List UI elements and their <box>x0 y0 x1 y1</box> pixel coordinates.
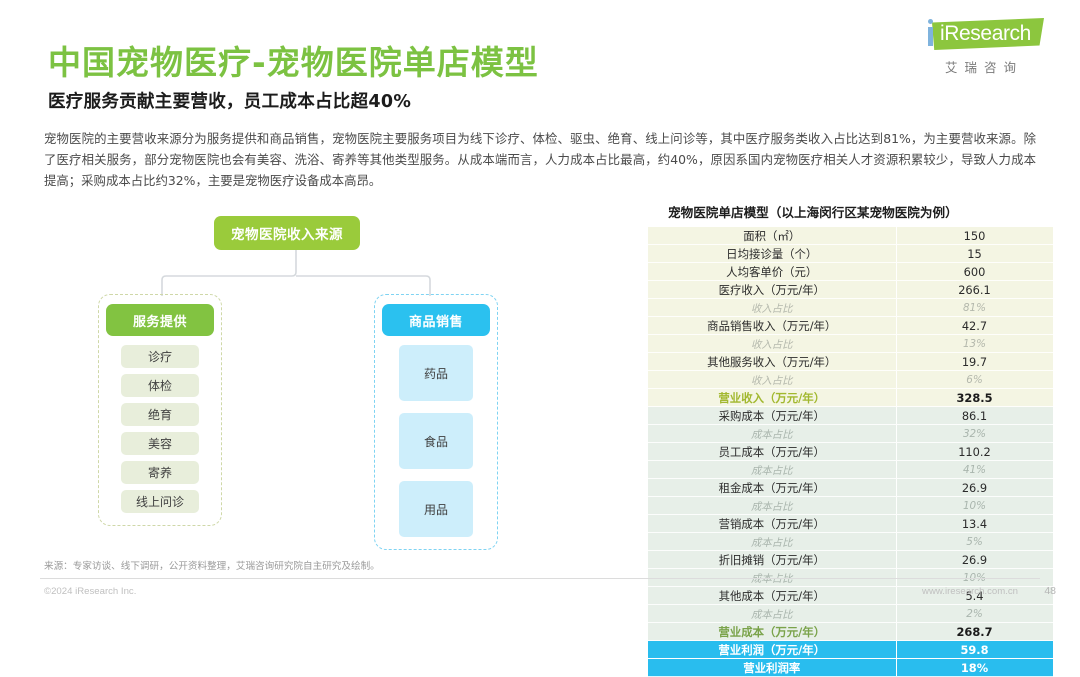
table-row: 商品销售收入（万元/年）42.7 <box>648 317 1053 335</box>
table-row: 收入占比13% <box>648 335 1053 353</box>
table-row: 营业成本（万元/年）268.7 <box>648 623 1053 641</box>
table-cell-label: 收入占比 <box>648 299 896 317</box>
table-cell-label: 医疗收入（万元/年） <box>648 281 896 299</box>
service-item-6: 线上问诊 <box>121 490 199 513</box>
diagram-root-node: 宠物医院收入来源 <box>214 216 360 250</box>
service-item-4: 美容 <box>121 432 199 455</box>
table-cell-label: 商品销售收入（万元/年） <box>648 317 896 335</box>
website-url: www.iresearch.com.cn <box>922 586 1018 597</box>
table-row: 采购成本（万元/年）86.1 <box>648 407 1053 425</box>
table-row: 日均接诊量（个）15 <box>648 245 1053 263</box>
table-cell-value: 86.1 <box>896 407 1053 425</box>
table-cell-label: 营销成本（万元/年） <box>648 515 896 533</box>
table-row: 成本占比32% <box>648 425 1053 443</box>
table-row: 收入占比81% <box>648 299 1053 317</box>
table-row: 医疗收入（万元/年）266.1 <box>648 281 1053 299</box>
table-row: 其他服务收入（万元/年）19.7 <box>648 353 1053 371</box>
table-cell-value: 59.8 <box>896 641 1053 659</box>
table-title: 宠物医院单店模型（以上海闵行区某宠物医院为例） <box>648 202 1052 221</box>
table-cell-value: 42.7 <box>896 317 1053 335</box>
logo-i-dot-icon <box>928 19 933 24</box>
table-cell-label: 成本占比 <box>648 425 896 443</box>
table-cell-value: 266.1 <box>896 281 1053 299</box>
table-row: 成本占比2% <box>648 605 1053 623</box>
branch-head-goods: 商品销售 <box>382 304 490 336</box>
iresearch-logo: iResearch 艾瑞咨询 <box>914 16 1046 76</box>
table-row: 租金成本（万元/年）26.9 <box>648 479 1053 497</box>
table-cell-value: 81% <box>896 299 1053 317</box>
slide-root: iResearch 艾瑞咨询 中国宠物医疗-宠物医院单店模型 医疗服务贡献主要营… <box>0 0 1080 607</box>
revenue-source-diagram: 宠物医院收入来源 服务提供 诊疗 体检 绝育 美容 寄养 线上问诊 商品销售 药… <box>36 202 616 552</box>
table-row: 人均客单价（元）600 <box>648 263 1053 281</box>
model-table: 面积（㎡）150日均接诊量（个）15人均客单价（元）600医疗收入（万元/年）2… <box>648 227 1053 677</box>
model-table-body: 面积（㎡）150日均接诊量（个）15人均客单价（元）600医疗收入（万元/年）2… <box>648 227 1053 677</box>
body-paragraph: 宠物医院的主要营收来源分为服务提供和商品销售，宠物医院主要服务项目为线下诊疗、体… <box>44 128 1036 191</box>
table-row: 成本占比41% <box>648 461 1053 479</box>
table-row: 收入占比6% <box>648 371 1053 389</box>
goods-item-2: 食品 <box>399 413 473 469</box>
table-cell-label: 员工成本（万元/年） <box>648 443 896 461</box>
table-cell-label: 成本占比 <box>648 533 896 551</box>
table-cell-label: 租金成本（万元/年） <box>648 479 896 497</box>
source-note: 来源：专家访谈、线下调研，公开资料整理，艾瑞咨询研究院自主研究及绘制。 <box>44 558 380 572</box>
footer-divider <box>40 578 1040 579</box>
table-cell-label: 采购成本（万元/年） <box>648 407 896 425</box>
table-cell-value: 268.7 <box>896 623 1053 641</box>
table-cell-label: 营业收入（万元/年） <box>648 389 896 407</box>
table-row: 营业利润（万元/年）59.8 <box>648 641 1053 659</box>
table-cell-value: 5% <box>896 533 1053 551</box>
table-cell-value: 26.9 <box>896 479 1053 497</box>
table-cell-value: 19.7 <box>896 353 1053 371</box>
table-row: 折旧摊销（万元/年）26.9 <box>648 551 1053 569</box>
table-cell-label: 收入占比 <box>648 371 896 389</box>
service-item-1: 诊疗 <box>121 345 199 368</box>
table-cell-value: 32% <box>896 425 1053 443</box>
logo-wordmark: iResearch <box>940 20 1031 47</box>
service-item-5: 寄养 <box>121 461 199 484</box>
page-title: 中国宠物医疗-宠物医院单店模型 <box>48 36 539 84</box>
table-cell-label: 成本占比 <box>648 497 896 515</box>
goods-item-3: 用品 <box>399 481 473 537</box>
table-row: 营业收入（万元/年）328.5 <box>648 389 1053 407</box>
branch-head-service: 服务提供 <box>106 304 214 336</box>
copyright-text: ©2024 iResearch Inc. <box>44 586 136 597</box>
table-cell-label: 日均接诊量（个） <box>648 245 896 263</box>
page-number: 48 <box>1044 585 1056 597</box>
page-subtitle: 医疗服务贡献主要营收，员工成本占比超40% <box>48 88 411 113</box>
table-cell-label: 收入占比 <box>648 335 896 353</box>
diagram-branch-service: 服务提供 诊疗 体检 绝育 美容 寄养 线上问诊 <box>98 294 222 526</box>
table-cell-value: 2% <box>896 605 1053 623</box>
table-cell-value: 6% <box>896 371 1053 389</box>
table-cell-value: 15 <box>896 245 1053 263</box>
table-cell-value: 26.9 <box>896 551 1053 569</box>
table-row: 营销成本（万元/年）13.4 <box>648 515 1053 533</box>
single-store-model-table: 宠物医院单店模型（以上海闵行区某宠物医院为例） 面积（㎡）150日均接诊量（个）… <box>648 202 1052 677</box>
table-row: 员工成本（万元/年）110.2 <box>648 443 1053 461</box>
service-item-3: 绝育 <box>121 403 199 426</box>
table-cell-value: 600 <box>896 263 1053 281</box>
table-cell-label: 成本占比 <box>648 461 896 479</box>
table-cell-value: 13.4 <box>896 515 1053 533</box>
diagram-connector-lines <box>146 250 446 298</box>
table-cell-value: 10% <box>896 497 1053 515</box>
table-cell-label: 人均客单价（元） <box>648 263 896 281</box>
goods-item-1: 药品 <box>399 345 473 401</box>
diagram-branch-goods: 商品销售 药品 食品 用品 <box>374 294 498 550</box>
table-cell-value: 41% <box>896 461 1053 479</box>
table-row: 成本占比5% <box>648 533 1053 551</box>
table-row: 成本占比10% <box>648 497 1053 515</box>
logo-mark: iResearch <box>914 16 1046 54</box>
table-cell-value: 13% <box>896 335 1053 353</box>
table-row: 面积（㎡）150 <box>648 227 1053 245</box>
table-cell-label: 折旧摊销（万元/年） <box>648 551 896 569</box>
table-cell-label: 成本占比 <box>648 605 896 623</box>
table-cell-value: 328.5 <box>896 389 1053 407</box>
table-cell-label: 营业利润率 <box>648 659 896 677</box>
table-cell-label: 面积（㎡） <box>648 227 896 245</box>
table-cell-value: 150 <box>896 227 1053 245</box>
table-cell-label: 其他成本（万元/年） <box>648 587 896 605</box>
service-item-2: 体检 <box>121 374 199 397</box>
table-cell-label: 营业成本（万元/年） <box>648 623 896 641</box>
table-cell-label: 营业利润（万元/年） <box>648 641 896 659</box>
table-row: 营业利润率18% <box>648 659 1053 677</box>
table-cell-label: 其他服务收入（万元/年） <box>648 353 896 371</box>
logo-chinese-name: 艾瑞咨询 <box>914 57 1046 76</box>
logo-i-stem-icon <box>928 27 933 46</box>
table-cell-value: 18% <box>896 659 1053 677</box>
table-cell-value: 110.2 <box>896 443 1053 461</box>
